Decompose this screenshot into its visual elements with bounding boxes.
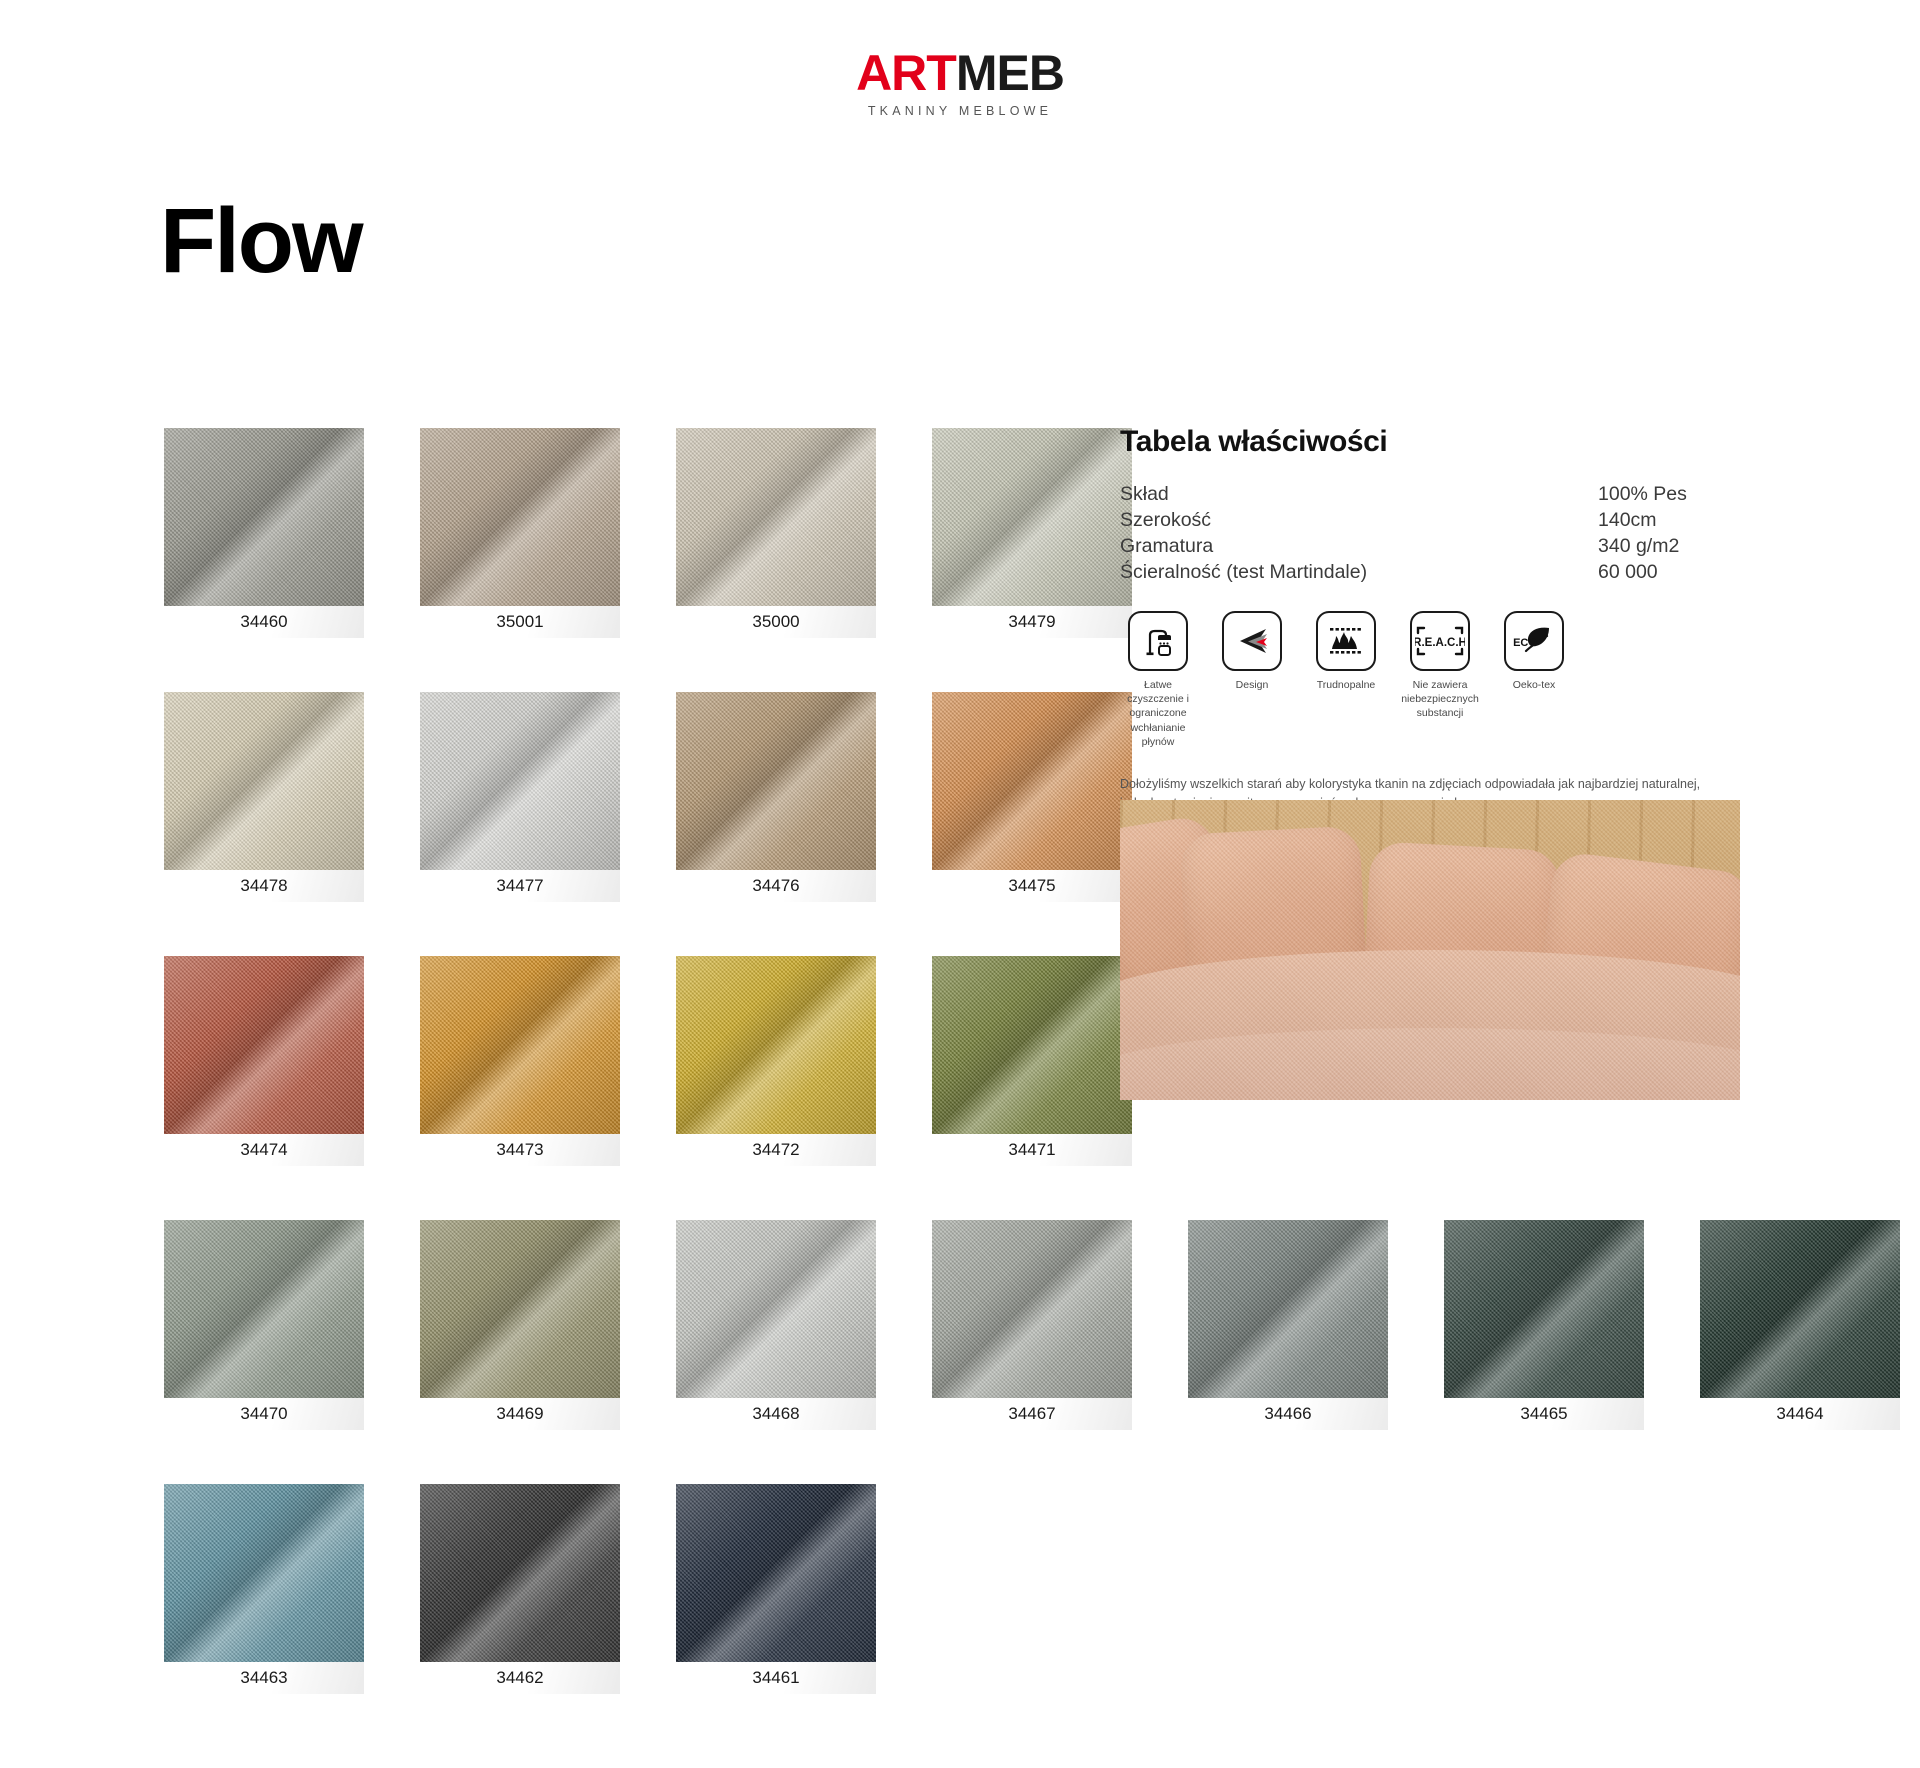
feature-caption: Trudnopalne bbox=[1317, 678, 1376, 692]
swatch-34464[interactable]: 34464 bbox=[1700, 1220, 1900, 1430]
swatch-34475[interactable]: 34475 bbox=[932, 692, 1132, 902]
fabric-texture bbox=[676, 692, 876, 870]
fabric-texture bbox=[164, 1484, 364, 1662]
page-title: Flow bbox=[160, 195, 362, 287]
swatch-34477[interactable]: 34477 bbox=[420, 692, 620, 902]
swatch-34470[interactable]: 34470 bbox=[164, 1220, 364, 1430]
swatch-34461[interactable]: 34461 bbox=[676, 1484, 876, 1694]
swatch-image bbox=[676, 1484, 876, 1662]
sofa-seat-cushion bbox=[1120, 1028, 1740, 1100]
swatch-35000[interactable]: 35000 bbox=[676, 428, 876, 638]
flame-icon bbox=[1316, 611, 1376, 671]
swatch-image bbox=[164, 1220, 364, 1398]
fabric-texture bbox=[932, 956, 1132, 1134]
swatch-image bbox=[420, 956, 620, 1134]
swatch-34474[interactable]: 34474 bbox=[164, 956, 364, 1166]
swatch-code: 34461 bbox=[676, 1662, 876, 1694]
swatch-code: 34464 bbox=[1700, 1398, 1900, 1430]
swatch-image bbox=[932, 956, 1132, 1134]
swatch-34467[interactable]: 34467 bbox=[932, 1220, 1132, 1430]
swatch-code: 34472 bbox=[676, 1134, 876, 1166]
swatch-code: 34477 bbox=[420, 870, 620, 902]
reach-icon: R.E.A.C.H bbox=[1410, 611, 1470, 671]
feature-caption: Łatwe czyszczenie i ograniczone wchłania… bbox=[1120, 678, 1196, 749]
swatch-34465[interactable]: 34465 bbox=[1444, 1220, 1644, 1430]
properties-heading: Tabela właściwości bbox=[1120, 425, 1760, 459]
swatch-row: 34463 34462 34461 bbox=[164, 1484, 1900, 1694]
fabric-texture bbox=[420, 1220, 620, 1398]
swatch-code: 34471 bbox=[932, 1134, 1132, 1166]
fabric-texture bbox=[164, 1220, 364, 1398]
catalog-page: ARTMEB TKANINY MEBLOWE Flow 34460 35001 … bbox=[0, 0, 1920, 1768]
fabric-texture bbox=[164, 692, 364, 870]
fabric-texture bbox=[932, 428, 1132, 606]
svg-text:ECO: ECO bbox=[1513, 637, 1537, 649]
swatch-code: 34478 bbox=[164, 870, 364, 902]
swatch-34468[interactable]: 34468 bbox=[676, 1220, 876, 1430]
swatch-image bbox=[164, 1484, 364, 1662]
swatch-image bbox=[676, 956, 876, 1134]
swatch-code: 34470 bbox=[164, 1398, 364, 1430]
property-value: 100% Pes bbox=[1598, 481, 1760, 507]
feature-caption: Nie zawiera niebezpiecznych substancji bbox=[1401, 678, 1479, 721]
swatch-image bbox=[1188, 1220, 1388, 1398]
property-label: Szerokość bbox=[1120, 507, 1598, 533]
swatch-image bbox=[1444, 1220, 1644, 1398]
fabric-texture bbox=[1188, 1220, 1388, 1398]
fabric-texture bbox=[420, 1484, 620, 1662]
property-label: Skład bbox=[1120, 481, 1598, 507]
swatch-image bbox=[164, 692, 364, 870]
swatch-code: 34469 bbox=[420, 1398, 620, 1430]
logo-art-text: ART bbox=[856, 45, 956, 101]
fabric-texture bbox=[420, 692, 620, 870]
swatch-image bbox=[932, 428, 1132, 606]
swatch-code: 34476 bbox=[676, 870, 876, 902]
swatch-image bbox=[932, 692, 1132, 870]
swatch-image bbox=[676, 1220, 876, 1398]
fabric-texture bbox=[164, 956, 364, 1134]
logo-tagline: TKANINY MEBLOWE bbox=[868, 104, 1052, 118]
swatch-34479[interactable]: 34479 bbox=[932, 428, 1132, 638]
swatch-34460[interactable]: 34460 bbox=[164, 428, 364, 638]
swatch-34473[interactable]: 34473 bbox=[420, 956, 620, 1166]
property-value: 60 000 bbox=[1598, 559, 1760, 585]
swatch-code: 34473 bbox=[420, 1134, 620, 1166]
feature-reach: R.E.A.C.H Nie zawiera niebezpiecznych su… bbox=[1402, 611, 1478, 749]
swatch-34476[interactable]: 34476 bbox=[676, 692, 876, 902]
fabric-texture bbox=[676, 956, 876, 1134]
swatch-34469[interactable]: 34469 bbox=[420, 1220, 620, 1430]
swatch-code: 34475 bbox=[932, 870, 1132, 902]
table-row: Szerokość 140cm bbox=[1120, 507, 1760, 533]
swatch-image bbox=[932, 1220, 1132, 1398]
property-value: 340 g/m2 bbox=[1598, 533, 1760, 559]
properties-table: Skład 100% Pes Szerokość 140cm Gramatura… bbox=[1120, 481, 1760, 585]
swatch-image bbox=[420, 692, 620, 870]
swatch-code: 35001 bbox=[420, 606, 620, 638]
swatch-34472[interactable]: 34472 bbox=[676, 956, 876, 1166]
svg-text:R.E.A.C.H: R.E.A.C.H bbox=[1415, 637, 1465, 649]
fabric-texture bbox=[1700, 1220, 1900, 1398]
fabric-texture bbox=[676, 428, 876, 606]
swatch-row: 34470 34469 34468 34467 34466 34465 bbox=[164, 1220, 1900, 1430]
swatch-34462[interactable]: 34462 bbox=[420, 1484, 620, 1694]
vacuum-cleaner-icon bbox=[1128, 611, 1188, 671]
properties-panel: Tabela właściwości Skład 100% Pes Szerok… bbox=[1120, 425, 1760, 849]
swatch-image bbox=[164, 428, 364, 606]
swatch-image bbox=[420, 428, 620, 606]
brand-logo: ARTMEB TKANINY MEBLOWE bbox=[0, 48, 1920, 118]
swatch-code: 34468 bbox=[676, 1398, 876, 1430]
swatch-34466[interactable]: 34466 bbox=[1188, 1220, 1388, 1430]
fabric-texture bbox=[932, 692, 1132, 870]
feature-flame-retardant: Trudnopalne bbox=[1308, 611, 1384, 749]
swatch-image bbox=[676, 428, 876, 606]
swatch-image bbox=[420, 1220, 620, 1398]
sofa-room-photo bbox=[1120, 800, 1740, 1100]
feature-easy-clean: Łatwe czyszczenie i ograniczone wchłania… bbox=[1120, 611, 1196, 749]
swatch-code: 34462 bbox=[420, 1662, 620, 1694]
fabric-texture bbox=[420, 428, 620, 606]
fabric-texture bbox=[676, 1220, 876, 1398]
logo-wordmark: ARTMEB bbox=[856, 48, 1064, 98]
feature-caption: Design bbox=[1236, 678, 1269, 692]
property-value: 140cm bbox=[1598, 507, 1760, 533]
swatch-code: 35000 bbox=[676, 606, 876, 638]
swatch-code: 34479 bbox=[932, 606, 1132, 638]
design-arrow-icon bbox=[1222, 611, 1282, 671]
swatch-image bbox=[676, 692, 876, 870]
feature-caption: Oeko-tex bbox=[1513, 678, 1556, 692]
fabric-texture bbox=[676, 1484, 876, 1662]
fabric-texture bbox=[1444, 1220, 1644, 1398]
table-row: Skład 100% Pes bbox=[1120, 481, 1760, 507]
swatch-34471[interactable]: 34471 bbox=[932, 956, 1132, 1166]
eco-leaf-icon: ECO bbox=[1504, 611, 1564, 671]
swatch-code: 34460 bbox=[164, 606, 364, 638]
fabric-texture bbox=[420, 956, 620, 1134]
swatch-code: 34463 bbox=[164, 1662, 364, 1694]
feature-design: Design bbox=[1214, 611, 1290, 749]
table-row: Ścieralność (test Martindale) 60 000 bbox=[1120, 559, 1760, 585]
swatch-code: 34466 bbox=[1188, 1398, 1388, 1430]
swatch-34463[interactable]: 34463 bbox=[164, 1484, 364, 1694]
property-label: Ścieralność (test Martindale) bbox=[1120, 559, 1598, 585]
fabric-texture bbox=[164, 428, 364, 606]
swatch-code: 34474 bbox=[164, 1134, 364, 1166]
swatch-image bbox=[420, 1484, 620, 1662]
swatch-image bbox=[1700, 1220, 1900, 1398]
table-row: Gramatura 340 g/m2 bbox=[1120, 533, 1760, 559]
feature-icons: Łatwe czyszczenie i ograniczone wchłania… bbox=[1120, 611, 1760, 749]
swatch-35001[interactable]: 35001 bbox=[420, 428, 620, 638]
swatch-image bbox=[164, 956, 364, 1134]
swatch-code: 34465 bbox=[1444, 1398, 1644, 1430]
fabric-texture bbox=[932, 1220, 1132, 1398]
logo-meb-text: MEB bbox=[956, 45, 1064, 101]
property-label: Gramatura bbox=[1120, 533, 1598, 559]
feature-oeko-tex: ECO Oeko-tex bbox=[1496, 611, 1572, 749]
swatch-code: 34467 bbox=[932, 1398, 1132, 1430]
swatch-34478[interactable]: 34478 bbox=[164, 692, 364, 902]
